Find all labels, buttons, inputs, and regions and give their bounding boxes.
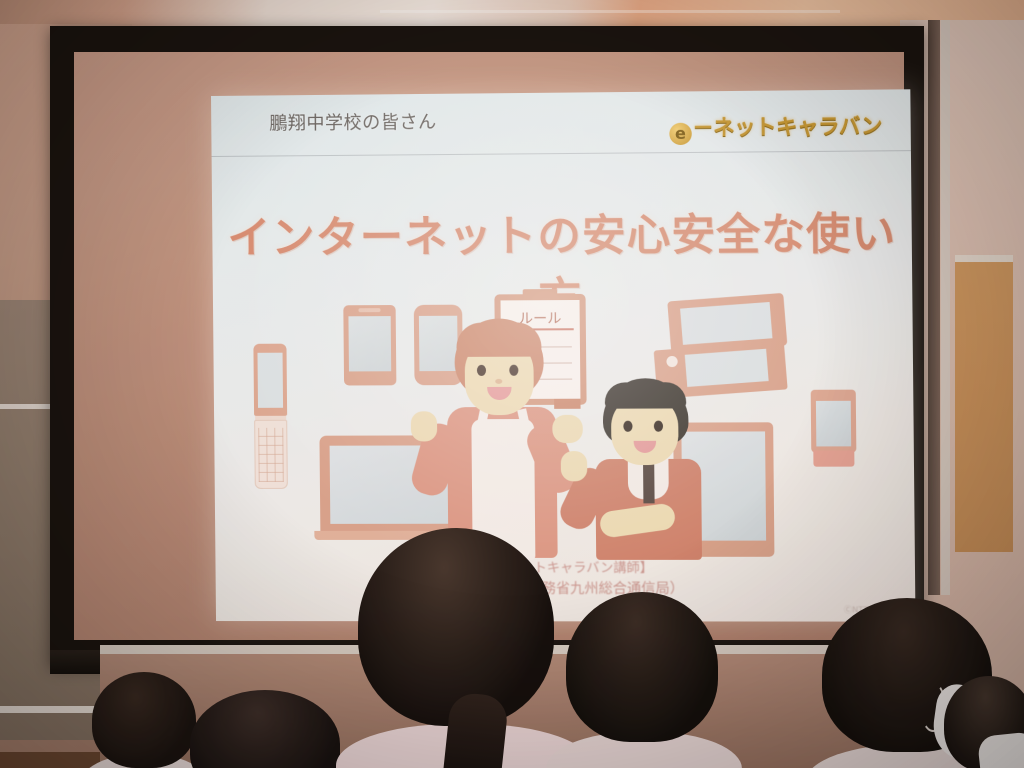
slide-illustration: ルール ✓ ✓ ✓ (213, 292, 915, 566)
door-jamb (928, 20, 940, 595)
door-jamb-inner (941, 20, 950, 595)
woman-in-apron-illustration (432, 318, 576, 560)
logo-wordmark: －ネットキャラバン (692, 114, 882, 140)
audience-member (330, 528, 590, 768)
header-divider (212, 150, 911, 157)
portable-media-player-icon (811, 390, 857, 469)
audience-member (944, 676, 1024, 768)
audience-label: 鵬翔中学校の皆さん (269, 108, 437, 136)
audience-member (556, 592, 726, 768)
logo-e-mark: e (669, 123, 692, 145)
e-net-caravan-logo: e－ネットキャラバン (669, 110, 882, 145)
smartphone-icon (343, 305, 396, 385)
schoolboy-illustration (588, 378, 712, 560)
flip-phone-icon (253, 344, 287, 489)
slide-header: 鵬翔中学校の皆さん e－ネットキャラバン (211, 89, 911, 158)
wooden-door-panel (955, 262, 1013, 552)
photo-scene: 鵬翔中学校の皆さん e－ネットキャラバン インターネットの安心安全な使い方 (0, 0, 1024, 768)
ceiling-seam (380, 10, 840, 13)
